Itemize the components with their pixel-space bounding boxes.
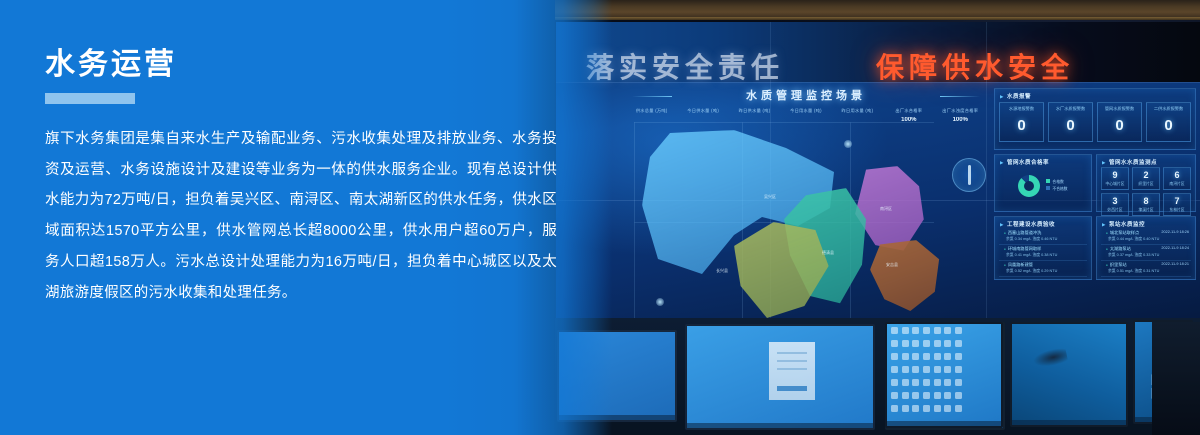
row-sub: 余氯 0.41 mg/L 浊度 0.38 NTU [1006,253,1057,258]
alarm-card: 二供水质报警数 0 [1146,102,1191,142]
list-item: 织里泵站 余氯 0.51 mg/L 浊度 0.31 NTU 2022-11-9 … [1101,261,1191,277]
bezel-seam [556,82,1200,83]
monitor-desktop-document [685,324,875,430]
row-timestamp: 2022-11-9 18:24 [1161,246,1189,250]
cell-label: 南浔片区 [1164,182,1190,187]
card-label: 水源地报警数 [1000,106,1043,112]
point-cell: 9 中心城片区 [1101,167,1129,190]
row-title: 西塞山路管道冲洗 [1004,230,1041,236]
bezel-seam [986,22,987,322]
row-sub: 余氯 0.37 mg/L 浊度 0.33 NTU [1108,253,1159,258]
side-monitor-stack [1152,322,1200,435]
description-paragraph: 旗下水务集团是集自来水生产及输配业务、污水收集处理及排放业务、水务投资及运营、水… [45,124,557,308]
kpi-label: 出厂水浊度合格率 [935,108,986,114]
desktop-icon-grid [890,327,963,423]
kpi-value: 100% [935,117,986,123]
row-sub: 余氯 0.51 mg/L 浊度 0.31 NTU [1108,269,1159,274]
station-row-list: 城北泵站取样点 余氯 0.44 mg/L 浊度 0.40 NTU 2022-11… [1101,229,1191,277]
map-label: 吴兴区 [764,194,776,200]
kpi-label: 今日供水量 (吨) [677,108,728,114]
donut-chart-icon [1018,175,1040,197]
card-label: 二供水质报警数 [1147,106,1190,112]
panel-water-quality-alarm: 水质报警 水源地报警数 0 水厂水质报警数 0 管网水质报警数 0 [994,88,1196,150]
card-label: 水厂水质报警数 [1049,106,1092,112]
legend-label: 不合格数 [1052,187,1067,191]
map-hotspot-icon [844,140,852,148]
panel-title: 工程建设水质验收 [1000,220,1055,228]
panel-title: 管网水质合格率 [1000,158,1049,166]
alarm-card: 管网水质报警数 0 [1097,102,1142,142]
map-label: 南浔区 [880,206,892,212]
page-title: 水务运营 [45,48,565,81]
alarm-card-list: 水源地报警数 0 水厂水质报警数 0 管网水质报警数 0 二供水质报警数 0 [999,102,1191,142]
alarm-card: 水厂水质报警数 0 [1048,102,1093,142]
pressure-gauge-icon [952,158,986,192]
legend-label: 合格数 [1052,180,1063,184]
row-sub: 余氯 0.34 mg/L 浊度 0.46 NTU [1006,237,1057,242]
panel-pump-station-quality: 泵站水质监控 城北泵站取样点 余氯 0.44 mg/L 浊度 0.40 NTU … [1096,216,1196,280]
point-cell: 7 东林片区 [1163,193,1191,216]
cell-value: 6 [1164,170,1190,180]
promo-banner: 落实安全责任 保障供水安全 水质管理监控场景 供水总量 (万吨) 今日供水量 (… [0,0,1200,435]
points-grid: 9 中心城片区 2 织里片区 6 南浔片区 3 妙西片区 [1101,167,1191,216]
led-video-wall: 落实安全责任 保障供水安全 水质管理监控场景 供水总量 (万吨) 今日供水量 (… [556,22,1200,322]
panel-construction-acceptance: 工程建设水质验收 西塞山路管道冲洗 余氯 0.34 mg/L 浊度 0.46 N… [994,216,1092,280]
desk-monitor-row [555,318,1200,435]
text-content-block: 水务运营 旗下水务集团是集自来水生产及输配业务、污水收集处理及排放业务、水务投资… [45,48,565,308]
list-item: 环城南路管网取样 余氯 0.41 mg/L 浊度 0.38 NTU [999,245,1087,261]
list-item: 西塞山路管道冲洗 余氯 0.34 mg/L 浊度 0.46 NTU [999,229,1087,245]
monitor-diver-wallpaper [1010,322,1128,427]
cell-value: 7 [1164,196,1190,206]
cell-value: 2 [1133,170,1159,180]
point-cell: 2 织里片区 [1132,167,1160,190]
card-label: 管网水质报警数 [1098,106,1141,112]
row-sub: 余氯 0.52 mg/L 浊度 0.29 NTU [1006,269,1057,274]
cell-value: 9 [1102,170,1128,180]
panel-title: 泵站水质监控 [1102,220,1145,228]
legend-item: 合格数 [1046,179,1067,186]
point-cell: 8 埭溪片区 [1132,193,1160,216]
dashboard-title: 水质管理监控场景 [676,88,936,104]
map-label: 安吉县 [886,262,898,268]
row-title: 城北泵站取样点 [1106,230,1139,236]
row-sub: 余氯 0.44 mg/L 浊度 0.40 NTU [1108,237,1159,242]
map-hotspot-icon [656,298,664,306]
title-accent-bar [45,93,135,104]
kpi-label: 昨日用水量 (吨) [832,108,883,114]
monitor-windows-icons [885,322,1003,428]
cell-label: 埭溪片区 [1133,208,1159,213]
card-value: 0 [1000,117,1043,134]
kpi-label: 今日用水量 (吨) [780,108,831,114]
row-title: 环城南路管网取样 [1004,246,1041,252]
kpi-label: 供水总量 (万吨) [626,108,677,114]
row-title: 太湖路泵站 [1106,246,1131,252]
cell-label: 织里片区 [1133,182,1159,187]
card-value: 0 [1147,117,1190,134]
kpi-label: 出厂水合格率 [883,108,934,114]
cell-label: 东林片区 [1164,208,1190,213]
panel-pipe-quality-rate: 管网水质合格率 合格数 不合格数 [994,154,1092,212]
cell-value: 3 [1102,196,1128,206]
legend-item: 不合格数 [1046,186,1067,193]
row-title: 凤凰路新建管 [1004,262,1033,268]
map-label: 德清县 [822,250,834,256]
panel-monitoring-points: 管网水水质监测点 9 中心城片区 2 织里片区 6 南浔片区 [1096,154,1196,212]
kpi-item: 出厂水浊度合格率 100% [935,108,986,132]
card-value: 0 [1098,117,1141,134]
region-map: 吴兴区 南浔区 德清县 长兴县 安吉县 [634,122,934,322]
cell-label: 中心城片区 [1102,182,1128,187]
list-item: 城北泵站取样点 余氯 0.44 mg/L 浊度 0.40 NTU 2022-11… [1101,229,1191,245]
row-timestamp: 2022-11-9 18:21 [1161,262,1189,266]
panel-title: 管网水水质监测点 [1102,158,1157,166]
inspect-row-list: 西塞山路管道冲洗 余氯 0.34 mg/L 浊度 0.46 NTU 环城南路管网… [999,229,1087,277]
chart-legend: 合格数 不合格数 [1046,179,1067,193]
point-cell: 6 南浔片区 [1163,167,1191,190]
row-timestamp: 2022-11-9 18:26 [1161,230,1189,234]
map-label: 长兴县 [716,268,728,274]
ceiling-strip [555,0,1200,22]
card-value: 0 [1049,117,1092,134]
kpi-label: 昨日供水量 (吨) [729,108,780,114]
rate-chart: 合格数 不合格数 [999,169,1087,203]
point-cell: 3 妙西片区 [1101,193,1129,216]
alarm-card: 水源地报警数 0 [999,102,1044,142]
cell-label: 妙西片区 [1102,208,1128,213]
cell-value: 8 [1133,196,1159,206]
list-item: 凤凰路新建管 余氯 0.52 mg/L 浊度 0.29 NTU [999,261,1087,277]
list-item: 太湖路泵站 余氯 0.37 mg/L 浊度 0.33 NTU 2022-11-9… [1101,245,1191,261]
document-preview [769,342,815,400]
panel-title: 水质报警 [1000,92,1031,100]
diver-figure [1031,347,1068,370]
row-title: 织里泵站 [1106,262,1127,268]
